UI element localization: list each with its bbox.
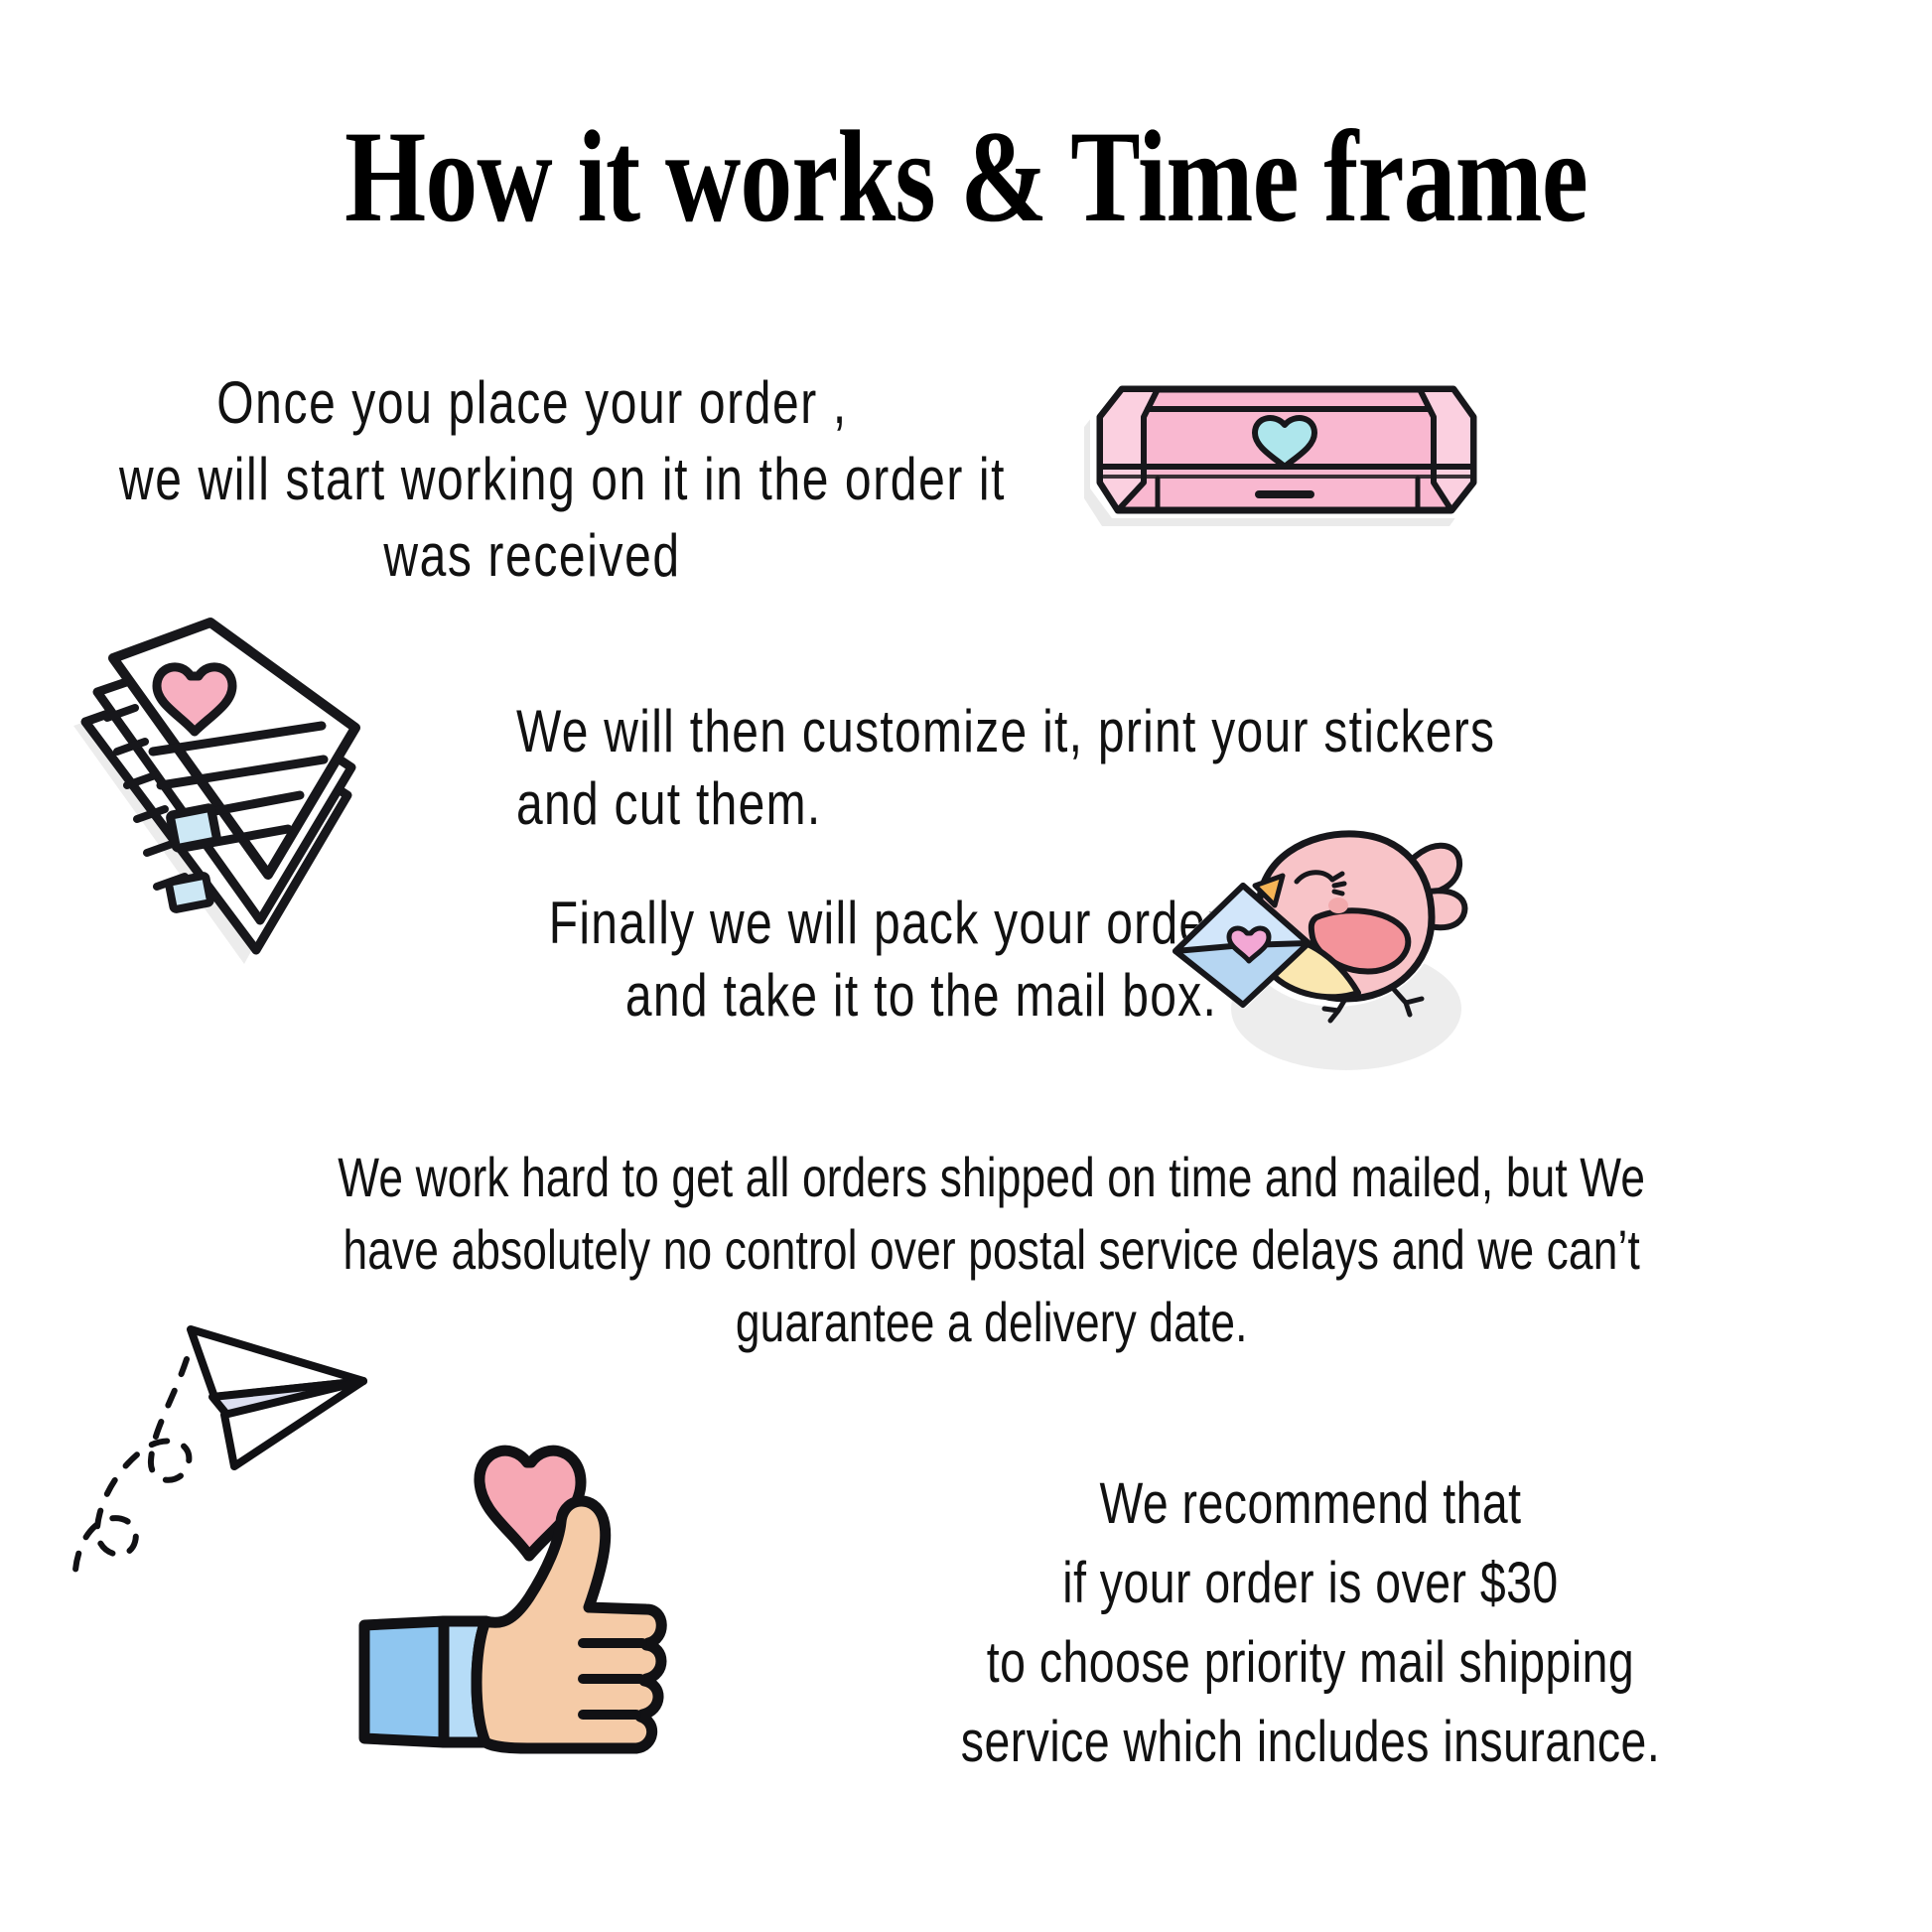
paragraph-disclaimer-line-3: guarantee a delivery date. [184,1287,1799,1359]
paragraph-recommend-line-2: if your order is over $30 [794,1544,1827,1623]
sleeve-icon [364,1621,444,1742]
paragraph-order-received: Once you place your order , we will star… [119,365,945,594]
paragraph-priority-mail-recommendation: We recommend that if your order is over … [794,1464,1827,1782]
stamp-icon [170,807,217,848]
bird-with-envelope-illustration [1152,814,1479,1072]
paragraph-disclaimer-line-2: have absolutely no control over postal s… [184,1214,1799,1287]
paragraph-order-line-3: was received [119,518,945,595]
paper-airplane-illustration [69,1315,367,1613]
thumbs-up-illustration [352,1445,650,1812]
paragraph-shipping-disclaimer: We work hard to get all orders shipped o… [184,1142,1799,1358]
paragraph-recommend-line-3: to choose priority mail shipping [794,1623,1827,1703]
stamp-secondary-icon [169,876,211,910]
infographic-page: How it works & Time frame Once you place… [0,0,1932,1932]
printer-machine-illustration [1070,363,1487,542]
paragraph-disclaimer-line-1: We work hard to get all orders shipped o… [184,1142,1799,1214]
bird-cheek-icon [1328,897,1348,913]
paragraph-order-line-1: Once you place your order , [119,365,945,442]
paragraph-recommend-line-1: We recommend that [794,1464,1827,1544]
paragraph-recommend-line-4: service which includes insurance. [794,1703,1827,1782]
airplane-trail-icon [75,1359,190,1586]
page-title: How it works & Time frame [194,111,1739,242]
paragraph-order-line-2: we will start working on it in the order… [119,442,945,518]
stacked-letters-illustration [62,601,359,968]
paragraph-customize-line-1: We will then customize it, print your st… [516,695,1549,767]
